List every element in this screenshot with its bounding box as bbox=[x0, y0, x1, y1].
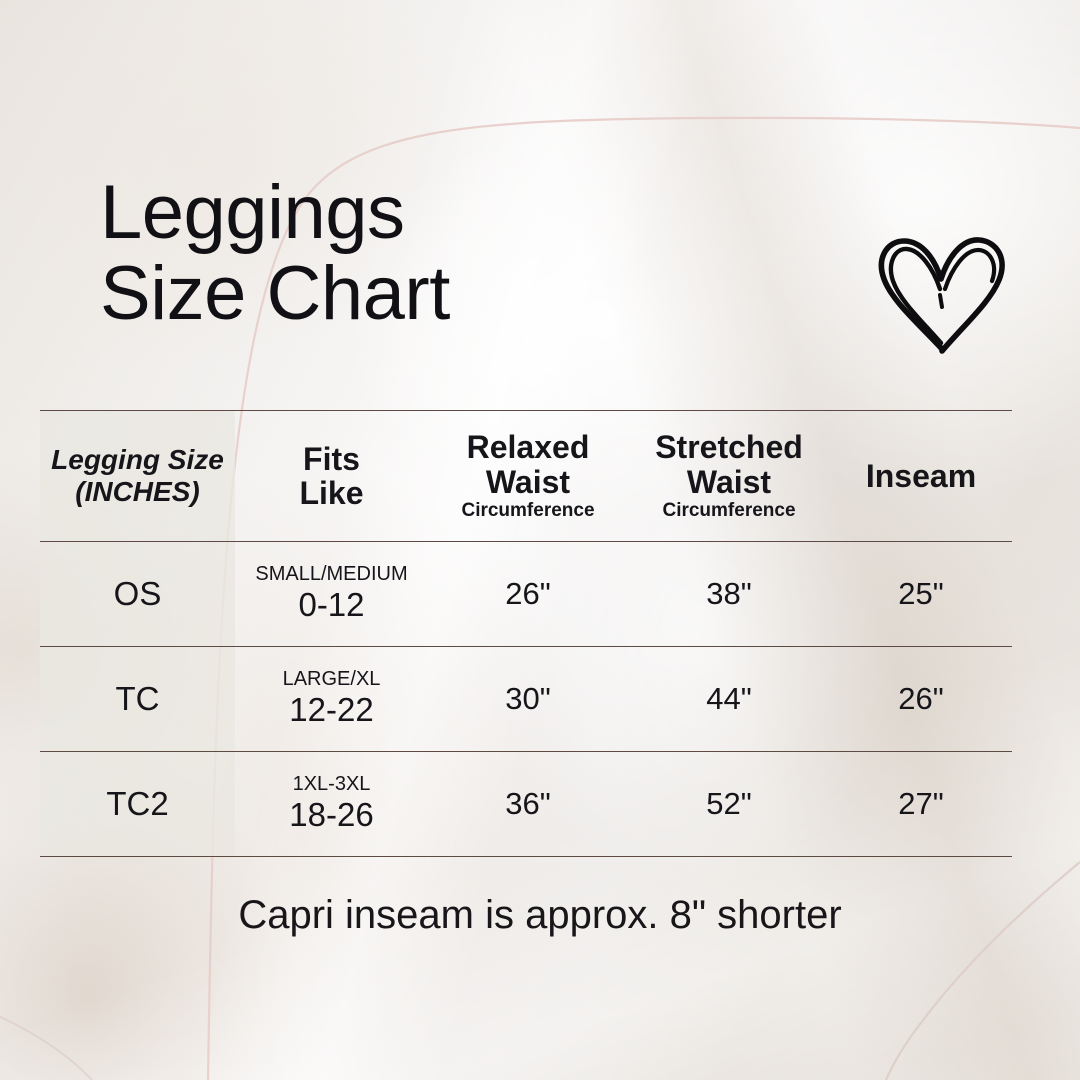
size-chart-table: Legging Size (INCHES) Fits Like Relaxed … bbox=[40, 410, 1012, 857]
header-label: Relaxed Waist bbox=[467, 430, 590, 498]
header-label: Legging Size (INCHES) bbox=[51, 444, 224, 508]
header-sublabel: Circumference bbox=[461, 501, 594, 522]
cell-inseam: 25" bbox=[830, 542, 1012, 646]
header-cell-legging-size: Legging Size (INCHES) bbox=[40, 411, 235, 541]
relaxed-waist-value: 36" bbox=[505, 786, 551, 822]
header-label: Fits Like bbox=[299, 442, 363, 510]
cell-inseam: 26" bbox=[830, 647, 1012, 751]
header-sublabel: Circumference bbox=[662, 501, 795, 522]
cell-fits-like: 1XL-3XL 18-26 bbox=[235, 752, 428, 856]
cell-relaxed-waist: 36" bbox=[428, 752, 628, 856]
relaxed-waist-value: 26" bbox=[505, 576, 551, 612]
size-value: TC bbox=[116, 680, 160, 718]
stretched-waist-value: 38" bbox=[706, 576, 752, 612]
header-cell-inseam: Inseam bbox=[830, 411, 1012, 541]
heart-doodle-icon bbox=[872, 231, 1012, 363]
inseam-value: 26" bbox=[898, 681, 944, 717]
table-row: TC LARGE/XL 12-22 30" 44" 26" bbox=[40, 646, 1012, 751]
fits-value: 12-22 bbox=[289, 691, 373, 729]
cell-inseam: 27" bbox=[830, 752, 1012, 856]
fits-value: 18-26 bbox=[289, 796, 373, 834]
cell-stretched-waist: 38" bbox=[628, 542, 830, 646]
fits-label: LARGE/XL bbox=[283, 668, 381, 690]
header-label: Inseam bbox=[866, 459, 976, 493]
relaxed-waist-value: 30" bbox=[505, 681, 551, 717]
fits-value: 0-12 bbox=[298, 586, 364, 624]
size-value: OS bbox=[114, 575, 162, 613]
table-row: OS SMALL/MEDIUM 0-12 26" 38" 25" bbox=[40, 541, 1012, 646]
inseam-value: 25" bbox=[898, 576, 944, 612]
capri-note: Capri inseam is approx. 8" shorter bbox=[0, 893, 1080, 938]
fits-label: 1XL-3XL bbox=[293, 773, 371, 795]
stretched-waist-value: 52" bbox=[706, 786, 752, 822]
fits-label: SMALL/MEDIUM bbox=[255, 563, 407, 585]
size-value: TC2 bbox=[106, 785, 168, 823]
cell-stretched-waist: 52" bbox=[628, 752, 830, 856]
stretched-waist-value: 44" bbox=[706, 681, 752, 717]
header-label: Stretched Waist bbox=[655, 430, 803, 498]
header-cell-relaxed-waist: Relaxed Waist Circumference bbox=[428, 411, 628, 541]
table-row: TC2 1XL-3XL 18-26 36" 52" 27" bbox=[40, 751, 1012, 857]
cell-size: OS bbox=[40, 542, 235, 646]
cell-size: TC2 bbox=[40, 752, 235, 856]
cell-size: TC bbox=[40, 647, 235, 751]
inseam-value: 27" bbox=[898, 786, 944, 822]
table-header-row: Legging Size (INCHES) Fits Like Relaxed … bbox=[40, 410, 1012, 541]
page-title: Leggings Size Chart bbox=[100, 172, 450, 335]
header-cell-fits-like: Fits Like bbox=[235, 411, 428, 541]
cell-relaxed-waist: 30" bbox=[428, 647, 628, 751]
cell-fits-like: SMALL/MEDIUM 0-12 bbox=[235, 542, 428, 646]
cell-fits-like: LARGE/XL 12-22 bbox=[235, 647, 428, 751]
cell-stretched-waist: 44" bbox=[628, 647, 830, 751]
cell-relaxed-waist: 26" bbox=[428, 542, 628, 646]
header-cell-stretched-waist: Stretched Waist Circumference bbox=[628, 411, 830, 541]
